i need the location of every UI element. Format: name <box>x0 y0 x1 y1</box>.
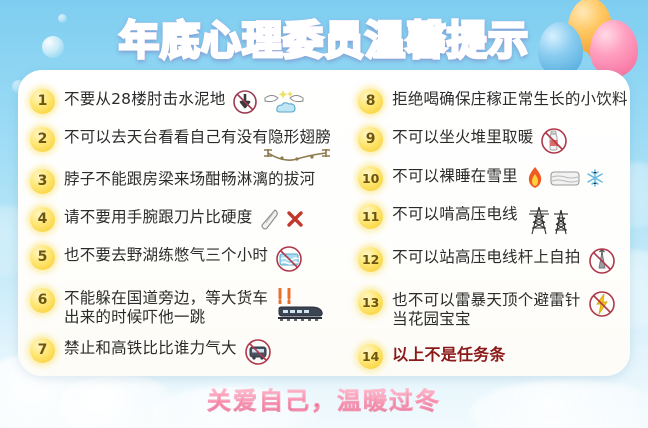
no-swimming-icon <box>275 245 303 273</box>
power-pylon-icon <box>525 204 573 236</box>
item-label: 脖子不能跟房梁来场酣畅淋漓的拔河 <box>64 168 315 189</box>
item-label: 不可以啃高压电线 <box>392 203 518 224</box>
item-number-badge: 3 <box>30 169 55 194</box>
blade-icon <box>259 207 281 231</box>
item-label: 不可以去天台看看自己有没有隐形翅膀 <box>64 126 331 147</box>
tug-of-war-rope-icon <box>262 148 332 166</box>
list-item: 13 也不可以雷暴天顶个避雷针 当花园宝宝 <box>358 289 630 329</box>
item-number-badge: 7 <box>30 338 55 363</box>
item-number-badge: 9 <box>358 127 383 152</box>
item-label: 以上不是任务条 <box>392 343 505 364</box>
item-icons <box>588 246 616 275</box>
tips-columns: 1 不要从28楼肘击水泥地 <box>18 70 630 376</box>
item-icons <box>540 126 568 155</box>
no-down-arrow-icon <box>232 89 258 115</box>
item-number-badge: 6 <box>30 288 55 313</box>
item-icons <box>232 88 306 115</box>
list-item: 11 不可以啃高压电线 <box>358 203 630 236</box>
list-item: 7 禁止和高铁比比谁力气大 <box>30 337 348 366</box>
list-item: 9 不可以坐火堆里取暖 <box>358 126 630 155</box>
item-number-badge: 2 <box>30 127 55 152</box>
list-item: 14 以上不是任务条 <box>358 343 630 371</box>
item-label: 不可以坐火堆里取暖 <box>392 126 533 147</box>
list-item: 10 不可以裸睡在雪里 <box>358 165 630 193</box>
item-label: 不可以裸睡在雪里 <box>392 165 518 186</box>
list-item: 6 不能躲在国道旁边，等大货车 出来的时候吓他一跳 <box>30 287 348 327</box>
item-number-badge: 8 <box>358 89 383 114</box>
list-item: 1 不要从28楼肘击水泥地 <box>30 88 348 116</box>
item-icons <box>525 203 573 236</box>
item-number-badge: 10 <box>358 166 383 191</box>
double-exclamation-icon <box>275 288 297 304</box>
snowflake-icon <box>585 168 605 188</box>
item-icons <box>588 289 616 318</box>
item-number-badge: 14 <box>358 344 383 369</box>
fire-icon <box>525 166 545 190</box>
item-icons <box>525 165 605 190</box>
item-label: 不可以站高压电线杆上自拍 <box>392 246 580 267</box>
poster: 年底心理委员温馨提示 1 不要从28楼肘击水泥地 <box>0 0 648 428</box>
tips-card: 1 不要从28楼肘击水泥地 <box>18 70 630 376</box>
item-number-badge: 13 <box>358 290 383 315</box>
item-number-badge: 11 <box>358 204 383 229</box>
item-icons <box>275 244 303 273</box>
title-area: 年底心理委员温馨提示 <box>0 8 648 66</box>
list-item: 8 拒绝喝确保庄稼正常生长的小饮料 <box>358 88 630 116</box>
footer-area: 关爱自己，温暖过冬 <box>0 381 648 416</box>
list-item: 3 脖子不能跟房梁来场酣畅淋漓的拔河 <box>30 168 348 196</box>
footer-slogan: 关爱自己，温暖过冬 <box>207 387 441 415</box>
item-label: 也不可以雷暴天顶个避雷针 当花园宝宝 <box>392 289 580 329</box>
tips-column-left: 1 不要从28楼肘击水泥地 <box>18 70 348 376</box>
no-lightning-icon <box>588 290 616 318</box>
tips-column-right: 8 拒绝喝确保庄稼正常生长的小饮料 9 不可以坐火堆里取暖 <box>348 70 630 376</box>
no-bottle-icon <box>540 127 568 155</box>
item-label: 不能躲在国道旁边，等大货车 出来的时候吓他一跳 <box>64 287 268 327</box>
no-bus-icon <box>244 338 272 366</box>
item-number-badge: 1 <box>30 89 55 114</box>
item-icons <box>275 287 325 323</box>
item-number-badge: 4 <box>30 207 55 232</box>
page-title: 年底心理委员温馨提示 <box>119 8 529 66</box>
bed-icon <box>549 167 581 189</box>
list-item: 12 不可以站高压电线杆上自拍 <box>358 246 630 275</box>
item-label: 也不要去野湖练憋气三个小时 <box>64 244 268 265</box>
item-label: 请不要用手腕跟刀片比硬度 <box>64 206 252 227</box>
item-label: 禁止和高铁比比谁力气大 <box>64 337 237 358</box>
item-number-badge: 12 <box>358 247 383 272</box>
item-label: 不要从28楼肘击水泥地 <box>64 88 225 109</box>
item-icons <box>244 337 272 366</box>
no-tower-icon <box>588 247 616 275</box>
train-icon <box>275 305 325 323</box>
item-number-badge: 5 <box>30 245 55 270</box>
angel-wings-icon <box>262 89 306 115</box>
item-icons <box>259 206 305 231</box>
red-x-icon <box>285 209 305 229</box>
list-item: 4 请不要用手腕跟刀片比硬度 <box>30 206 348 234</box>
list-item: 5 也不要去野湖练憋气三个小时 <box>30 244 348 273</box>
item-label: 拒绝喝确保庄稼正常生长的小饮料 <box>392 88 628 109</box>
